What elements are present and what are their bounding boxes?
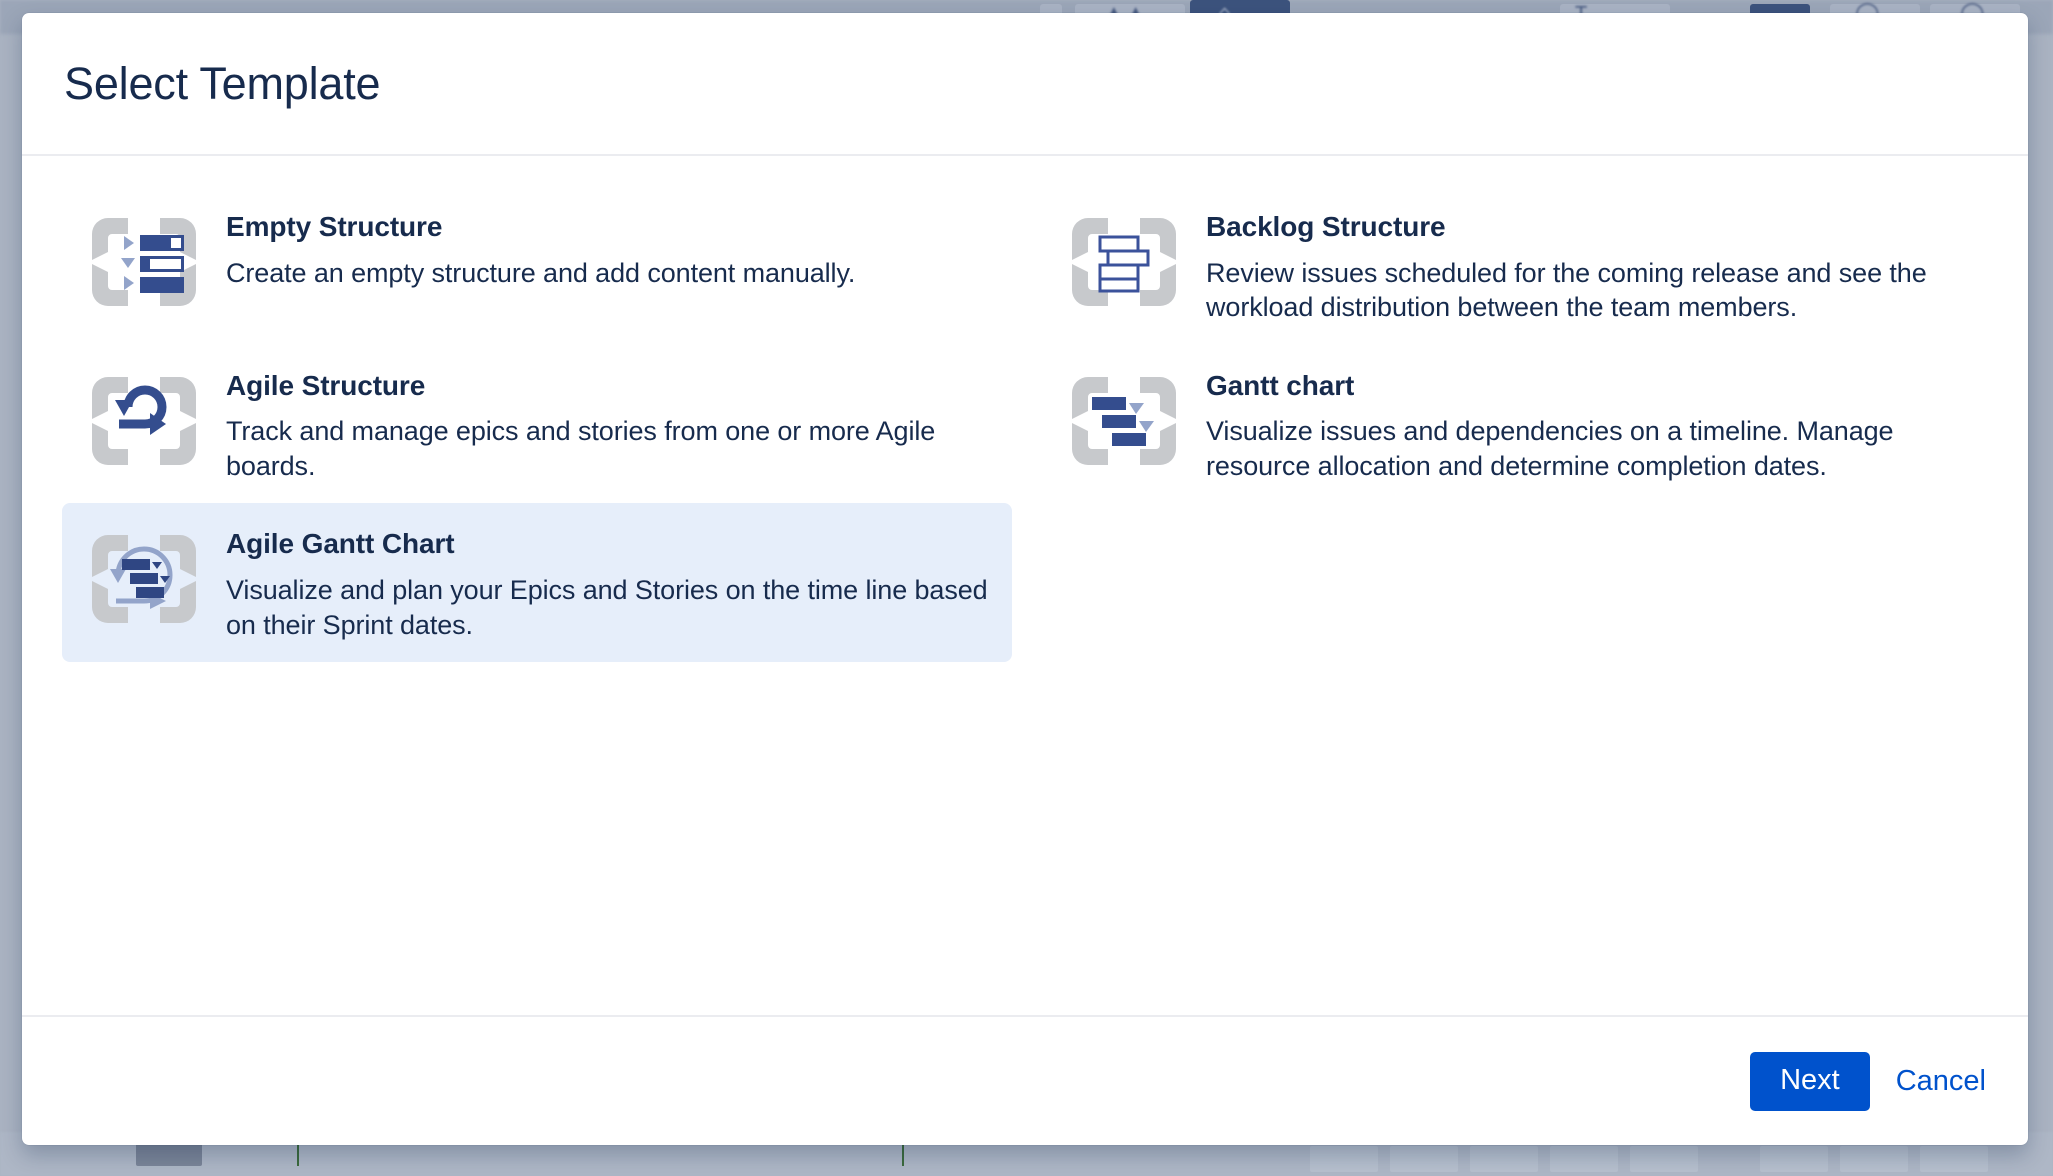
template-text: Backlog Structure Review issues schedule…: [1206, 206, 1970, 325]
template-card-empty-structure[interactable]: Empty Structure Create an empty structur…: [62, 186, 1012, 345]
template-description: Create an empty structure and add conten…: [226, 256, 990, 291]
template-card-backlog-structure[interactable]: Backlog Structure Review issues schedule…: [1042, 186, 1992, 345]
template-list: Empty Structure Create an empty structur…: [62, 186, 1988, 662]
background-grid-cell: [1840, 1146, 1908, 1172]
template-description: Visualize and plan your Epics and Storie…: [226, 573, 990, 642]
template-card-agile-structure[interactable]: Agile Structure Track and manage epics a…: [62, 345, 1012, 504]
select-template-dialog: Select Template: [22, 13, 2028, 1145]
template-card-agile-gantt-chart[interactable]: Agile Gantt Chart Visualize and plan you…: [62, 503, 1012, 662]
template-title: Empty Structure: [226, 210, 990, 244]
backlog-structure-icon: [1064, 212, 1184, 312]
agile-gantt-chart-icon: [84, 529, 204, 629]
template-title: Backlog Structure: [1206, 210, 1970, 244]
dialog-body: Empty Structure Create an empty structur…: [22, 156, 2028, 1015]
background-grid-cell: [1920, 1146, 1988, 1172]
dialog-header: Select Template: [22, 13, 2028, 156]
background-grid-cell: [1310, 1146, 1378, 1172]
next-button[interactable]: Next: [1750, 1052, 1870, 1111]
template-description: Track and manage epics and stories from …: [226, 414, 990, 483]
cancel-button[interactable]: Cancel: [1896, 1067, 1986, 1096]
background-grid-cell: [1550, 1146, 1618, 1172]
empty-structure-icon: [84, 212, 204, 312]
background-grid-cell: [1760, 1146, 1828, 1172]
template-text: Agile Gantt Chart Visualize and plan you…: [226, 523, 990, 642]
template-card-gantt-chart[interactable]: Gantt chart Visualize issues and depende…: [1042, 345, 1992, 504]
template-title: Gantt chart: [1206, 369, 1970, 403]
gantt-chart-icon: [1064, 371, 1184, 471]
template-description: Review issues scheduled for the coming r…: [1206, 256, 1970, 325]
agile-structure-icon: [84, 371, 204, 471]
template-text: Gantt chart Visualize issues and depende…: [1206, 365, 1970, 484]
template-title: Agile Gantt Chart: [226, 527, 990, 561]
dialog-title: Select Template: [64, 58, 380, 110]
template-text: Empty Structure Create an empty structur…: [226, 206, 990, 290]
template-text: Agile Structure Track and manage epics a…: [226, 365, 990, 484]
template-title: Agile Structure: [226, 369, 990, 403]
background-grid-cell: [1390, 1146, 1458, 1172]
template-description: Visualize issues and dependencies on a t…: [1206, 414, 1970, 483]
background-grid-cell: [1630, 1146, 1698, 1172]
background-grid-cell: [1470, 1146, 1538, 1172]
dialog-footer: Next Cancel: [22, 1015, 2028, 1145]
